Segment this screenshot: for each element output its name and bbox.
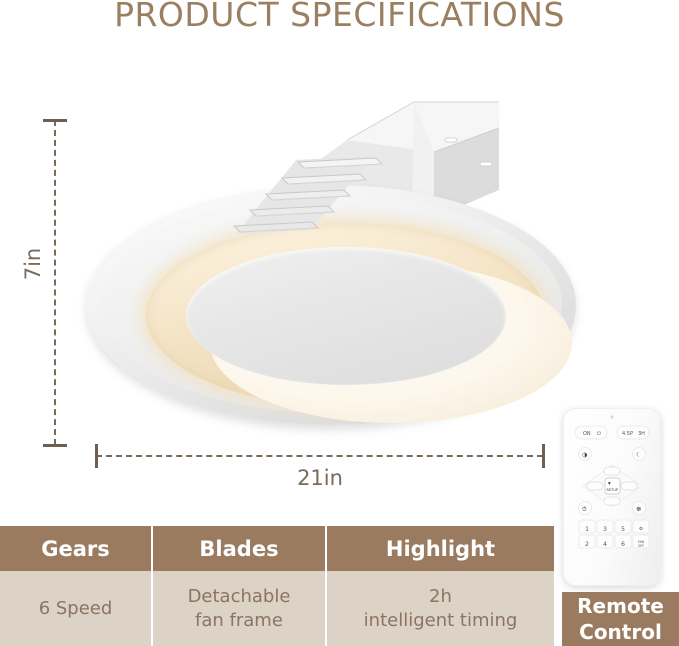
svg-text:▾: ▾ bbox=[608, 481, 611, 487]
remote-control-image: ON ⏻ 4.5P 3H ◑ ☾ ▾ SETUP ⏱ ☸ bbox=[563, 408, 661, 586]
svg-text:☾: ☾ bbox=[636, 452, 641, 459]
svg-text:☸: ☸ bbox=[636, 506, 641, 513]
table-body-row: 6 Speed Detachable fan frame 2h intellig… bbox=[0, 571, 554, 646]
table-cell-gears-line1: 6 Speed bbox=[39, 597, 113, 620]
table-header-blades: Blades bbox=[153, 526, 327, 571]
table-cell-blades-line1: Detachable bbox=[188, 585, 291, 608]
height-dimension-label: 7in bbox=[21, 240, 45, 288]
table-cell-gears: 6 Speed bbox=[0, 571, 153, 646]
svg-text:1: 1 bbox=[585, 526, 589, 533]
specification-table: Gears Blades Highlight 6 Speed Detachabl… bbox=[0, 526, 554, 646]
svg-text:4: 4 bbox=[603, 541, 607, 548]
remote-button-light-power bbox=[575, 426, 607, 439]
remote-ir-dot bbox=[610, 415, 613, 418]
width-dimension-label: 21in bbox=[265, 466, 375, 490]
svg-text:3: 3 bbox=[603, 526, 607, 533]
remote-button-up bbox=[604, 467, 620, 475]
table-header-highlight: Highlight bbox=[327, 526, 554, 571]
table-cell-highlight: 2h intelligent timing bbox=[327, 571, 554, 646]
height-dimension-cap-top bbox=[43, 119, 67, 122]
svg-text:⏻: ⏻ bbox=[597, 431, 601, 437]
height-dimension-cap-bottom bbox=[43, 444, 67, 447]
svg-text:ON: ON bbox=[583, 431, 591, 437]
svg-text:2: 2 bbox=[585, 541, 589, 548]
svg-text:OFF: OFF bbox=[638, 544, 644, 548]
table-cell-blades-line2: fan frame bbox=[188, 609, 291, 632]
width-dimension-line bbox=[96, 455, 543, 457]
fan-blade-slats bbox=[178, 142, 478, 297]
svg-text:◑: ◑ bbox=[582, 452, 587, 459]
remote-button-right bbox=[621, 482, 637, 490]
svg-text:3H: 3H bbox=[638, 431, 645, 437]
product-specifications-page: PRODUCT SPECIFICATIONS 7in 21in bbox=[0, 0, 679, 646]
remote-button-left bbox=[587, 482, 603, 490]
svg-text:⚙: ⚙ bbox=[639, 526, 643, 532]
width-dimension-cap-right bbox=[542, 444, 545, 468]
height-dimension-line bbox=[54, 120, 56, 445]
remote-setup-label: SETUP bbox=[607, 488, 619, 492]
table-cell-highlight-line1: 2h bbox=[364, 585, 518, 608]
svg-text:4.5P: 4.5P bbox=[622, 431, 633, 437]
remote-caption-line1: Remote bbox=[577, 593, 664, 619]
width-dimension-cap-left bbox=[95, 444, 98, 468]
remote-caption-line2: Control bbox=[577, 619, 664, 645]
remote-button-down bbox=[604, 497, 620, 505]
table-header-row: Gears Blades Highlight bbox=[0, 526, 554, 571]
svg-text:5: 5 bbox=[621, 526, 625, 533]
table-cell-highlight-line2: intelligent timing bbox=[364, 609, 518, 632]
svg-text:⏱: ⏱ bbox=[582, 506, 587, 513]
table-cell-blades: Detachable fan frame bbox=[153, 571, 327, 646]
svg-text:6: 6 bbox=[621, 541, 625, 548]
product-image-ceiling-fan bbox=[78, 100, 583, 425]
table-header-gears: Gears bbox=[0, 526, 153, 571]
remote-control-caption: Remote Control bbox=[562, 592, 679, 646]
page-title: PRODUCT SPECIFICATIONS bbox=[0, 0, 679, 34]
